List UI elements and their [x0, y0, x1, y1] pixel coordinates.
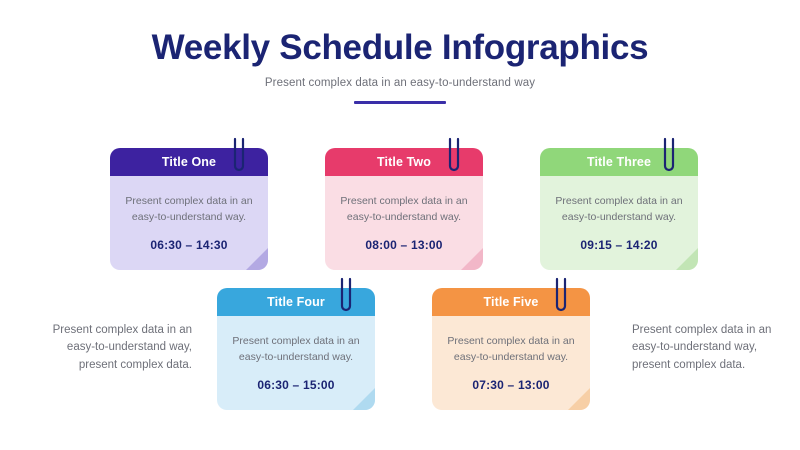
- card-time-range: 08:00 – 13:00: [365, 238, 442, 252]
- card-title: Title Four: [267, 295, 325, 309]
- paperclip-icon: [554, 277, 568, 317]
- card-folded-corner: [246, 248, 268, 270]
- schedule-card[interactable]: Title OnePresent complex data in an easy…: [110, 148, 268, 270]
- card-title: Title Five: [484, 295, 539, 309]
- card-body: Present complex data in an easy-to-under…: [110, 176, 268, 270]
- paperclip-icon: [662, 137, 676, 177]
- card-title: Title Two: [377, 155, 431, 169]
- card-description: Present complex data in an easy-to-under…: [335, 194, 473, 224]
- slide-header: Weekly Schedule Infographics Present com…: [0, 28, 800, 104]
- card-description: Present complex data in an easy-to-under…: [442, 334, 580, 364]
- paperclip-icon: [339, 277, 353, 317]
- card-folded-corner: [461, 248, 483, 270]
- card-time-range: 09:15 – 14:20: [580, 238, 657, 252]
- schedule-card[interactable]: Title ThreePresent complex data in an ea…: [540, 148, 698, 270]
- paperclip-icon: [447, 137, 461, 177]
- card-title: Title One: [162, 155, 216, 169]
- schedule-card[interactable]: Title FourPresent complex data in an eas…: [217, 288, 375, 410]
- infographic-slide: Weekly Schedule Infographics Present com…: [0, 0, 800, 450]
- schedule-card[interactable]: Title FivePresent complex data in an eas…: [432, 288, 590, 410]
- title-divider: [354, 101, 446, 104]
- card-time-range: 06:30 – 15:00: [257, 378, 334, 392]
- card-folded-corner: [353, 388, 375, 410]
- card-body: Present complex data in an easy-to-under…: [217, 316, 375, 410]
- card-title: Title Three: [587, 155, 651, 169]
- paperclip-icon: [232, 137, 246, 177]
- card-description: Present complex data in an easy-to-under…: [227, 334, 365, 364]
- page-title: Weekly Schedule Infographics: [0, 28, 800, 68]
- side-note-left: Present complex data in an easy-to-under…: [42, 322, 192, 374]
- page-subtitle: Present complex data in an easy-to-under…: [0, 77, 800, 89]
- card-time-range: 07:30 – 13:00: [472, 378, 549, 392]
- card-body: Present complex data in an easy-to-under…: [540, 176, 698, 270]
- side-note-right: Present complex data in an easy-to-under…: [632, 322, 782, 374]
- card-folded-corner: [568, 388, 590, 410]
- card-folded-corner: [676, 248, 698, 270]
- card-description: Present complex data in an easy-to-under…: [550, 194, 688, 224]
- card-body: Present complex data in an easy-to-under…: [325, 176, 483, 270]
- card-description: Present complex data in an easy-to-under…: [120, 194, 258, 224]
- schedule-card[interactable]: Title TwoPresent complex data in an easy…: [325, 148, 483, 270]
- card-body: Present complex data in an easy-to-under…: [432, 316, 590, 410]
- card-time-range: 06:30 – 14:30: [150, 238, 227, 252]
